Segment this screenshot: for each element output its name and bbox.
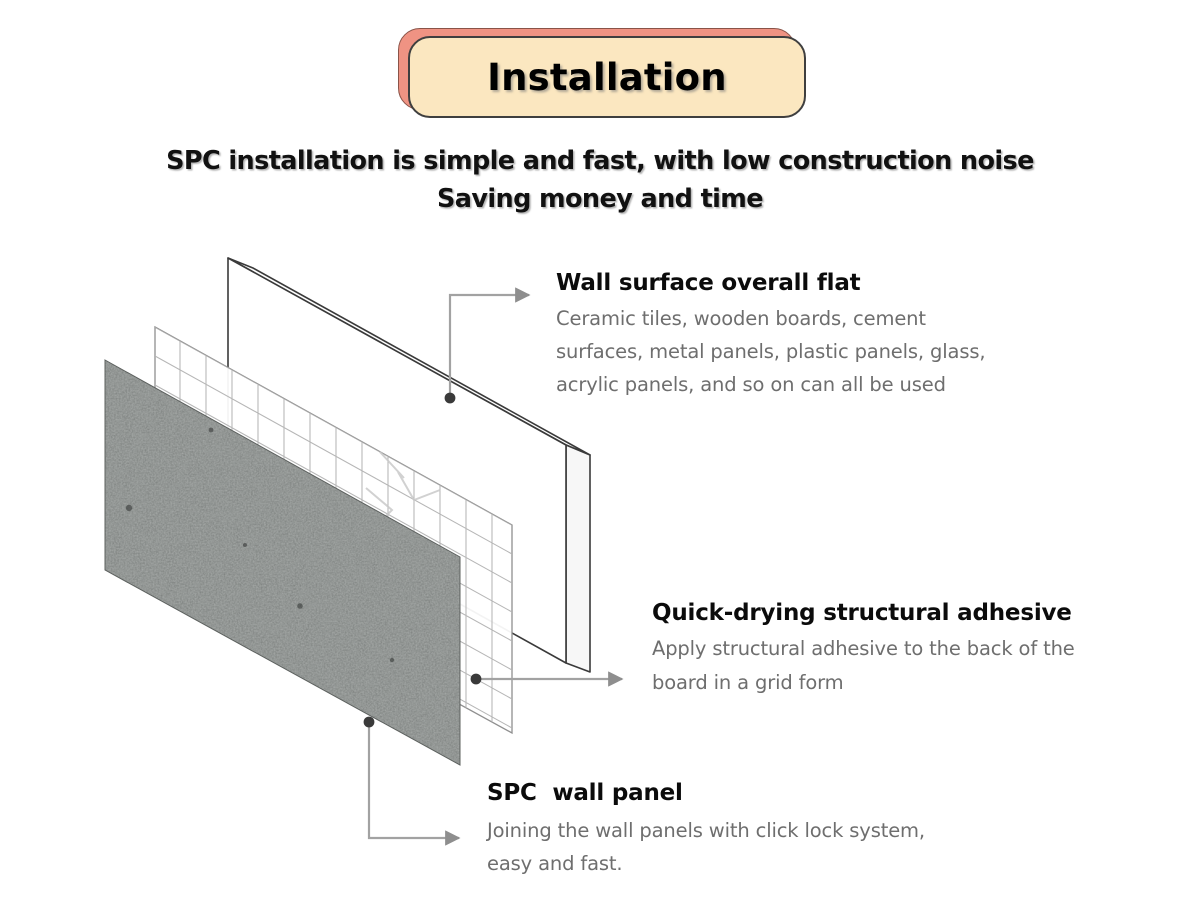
callout-spc-panel-body-line-2: easy and fast. [487, 847, 1027, 880]
wall-panel-top-face [228, 258, 590, 455]
spc-panel-outline [105, 360, 460, 765]
callout-adhesive-body-line-1: Apply structural adhesive to the back of… [652, 632, 1172, 666]
callout-wall-surface-body: Ceramic tiles, wooden boards, cement sur… [556, 302, 1076, 401]
adhesive-mesh-face [155, 327, 512, 733]
exploded-layer-diagram [0, 0, 1200, 900]
adhesive-smear-detail [366, 452, 440, 528]
callout-spc-panel-body-line-1: Joining the wall panels with click lock … [487, 814, 1027, 847]
wall-panel-front-face [228, 258, 566, 663]
leader-dot-wall-surface [445, 393, 456, 404]
leader-dot-spc-panel [364, 717, 375, 728]
diagram-layer-wall-substrate [228, 258, 590, 672]
leader-dots [364, 393, 482, 728]
spc-panel-base-fill [100, 355, 470, 775]
leader-line-wall-surface [450, 295, 529, 398]
title-badge-front-layer: Installation [408, 36, 806, 118]
diagram-layer-adhesive-mesh [155, 327, 512, 733]
leader-dot-adhesive [471, 674, 482, 685]
callout-adhesive-title: Quick-drying structural adhesive [652, 600, 1172, 626]
callout-wall-surface-body-line-3: acrylic panels, and so on can all be use… [556, 368, 1076, 401]
spc-panel-speckles [126, 428, 394, 663]
callout-wall-surface-body-line-2: surfaces, metal panels, plastic panels, … [556, 335, 1076, 368]
callout-wall-surface-body-line-1: Ceramic tiles, wooden boards, cement [556, 302, 1076, 335]
subtitle: SPC installation is simple and fast, wit… [0, 142, 1200, 218]
spc-panel-texture [100, 355, 470, 775]
diagram-layer-spc-panel [100, 355, 470, 775]
wall-panel-side-face [566, 445, 590, 672]
callout-wall-surface: Wall surface overall flat Ceramic tiles,… [556, 270, 1076, 401]
spc-panel-face [105, 360, 460, 765]
callout-adhesive-body-line-2: board in a grid form [652, 666, 1172, 700]
callout-adhesive-body: Apply structural adhesive to the back of… [652, 632, 1172, 700]
callout-spc-panel-body: Joining the wall panels with click lock … [487, 814, 1027, 880]
subtitle-line-1: SPC installation is simple and fast, wit… [0, 142, 1200, 180]
callout-wall-surface-title: Wall surface overall flat [556, 270, 1076, 296]
subtitle-line-2: Saving money and time [0, 180, 1200, 218]
adhesive-grid-lines [155, 327, 512, 728]
callout-spc-panel: SPC wall panel Joining the wall panels w… [487, 780, 1027, 880]
leader-line-spc-panel [369, 722, 459, 838]
callout-spc-panel-title: SPC wall panel [487, 780, 1027, 806]
callout-adhesive: Quick-drying structural adhesive Apply s… [652, 600, 1172, 700]
title-badge: Installation [398, 28, 808, 118]
page-title: Installation [487, 56, 727, 99]
